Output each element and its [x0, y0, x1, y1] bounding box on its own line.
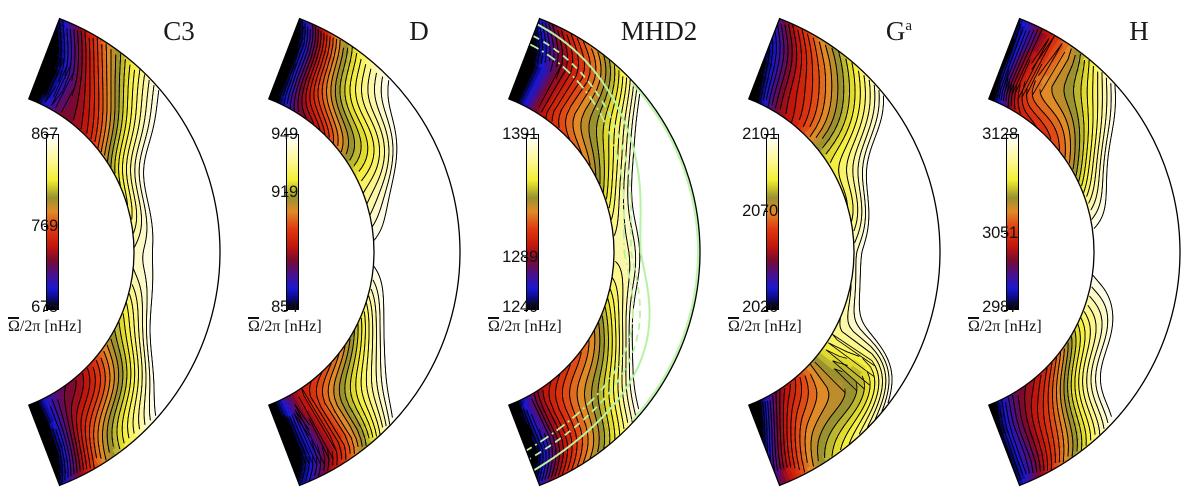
- colorbar-tick-mid: [44, 226, 48, 227]
- panel-title-superscript: a: [905, 18, 912, 34]
- colorbar-max-label-h: 3128: [982, 125, 1018, 144]
- colorbar-mid-label-mhd2: 1289: [502, 248, 538, 267]
- colorbar-tick-max: [1004, 134, 1008, 135]
- panel-title-c3: C3: [120, 18, 238, 45]
- colorbar-tick-max: [764, 134, 768, 135]
- colorbar-gradient: [767, 135, 778, 309]
- colorbar-unit-label-h: Ω/2π [nHz]: [968, 318, 1042, 336]
- colorbar-mhd2: [526, 134, 539, 310]
- omega-overbar: Ω: [488, 318, 500, 336]
- colorbar-min-label-h: 2987: [982, 298, 1018, 317]
- panel-mhd2: MHD2139112891240Ω/2π [nHz]: [480, 0, 720, 504]
- colorbar-max-label-ga: 2101: [742, 125, 778, 144]
- panel-h: H312830512987Ω/2π [nHz]: [960, 0, 1200, 504]
- panel-c3: C3867769675Ω/2π [nHz]: [0, 0, 240, 504]
- colorbar-tick-min: [1004, 310, 1008, 311]
- colorbar-mid-label-ga: 2070: [742, 202, 778, 221]
- colorbar-tick-min: [284, 310, 288, 311]
- unit-text: /2π [nHz]: [980, 318, 1042, 335]
- colorbar-unit-label-c3: Ω/2π [nHz]: [8, 318, 82, 336]
- panel-ga: Ga210120702026Ω/2π [nHz]: [720, 0, 960, 504]
- omega-overbar: Ω: [968, 318, 980, 336]
- overbar-rule: [728, 317, 739, 319]
- panel-d: D949919854Ω/2π [nHz]: [240, 0, 480, 504]
- colorbar-tick-min: [44, 310, 48, 311]
- colorbar-unit-label-ga: Ω/2π [nHz]: [728, 318, 802, 336]
- colorbar-min-label-ga: 2026: [742, 298, 778, 317]
- colorbar-tick-mid: [524, 257, 528, 258]
- colorbar-tick-min: [764, 310, 768, 311]
- colorbar-tick-mid: [284, 192, 288, 193]
- colorbar-min-label-c3: 675: [31, 298, 58, 317]
- colorbar-unit-label-d: Ω/2π [nHz]: [248, 318, 322, 336]
- unit-text: /2π [nHz]: [740, 318, 802, 335]
- omega-overbar: Ω: [8, 318, 20, 336]
- unit-text: /2π [nHz]: [20, 318, 82, 335]
- colorbar-h: [1006, 134, 1019, 310]
- colorbar-gradient: [527, 135, 538, 309]
- colorbar-min-label-d: 854: [271, 298, 298, 317]
- colorbar-ga: [766, 134, 779, 310]
- panel-title-d: D: [360, 18, 478, 45]
- unit-text: /2π [nHz]: [500, 318, 562, 335]
- colorbar-tick-mid: [1004, 233, 1008, 234]
- colorbar-gradient: [287, 135, 298, 309]
- colorbar-tick-min: [524, 310, 528, 311]
- figure-root: C3867769675Ω/2π [nHz] D949919854Ω/2π [nH…: [0, 0, 1200, 504]
- colorbar-tick-mid: [764, 211, 768, 212]
- colorbar-tick-max: [284, 134, 288, 135]
- colorbar-max-label-mhd2: 1391: [502, 125, 538, 144]
- colorbar-gradient: [1007, 135, 1018, 309]
- colorbar-unit-label-mhd2: Ω/2π [nHz]: [488, 318, 562, 336]
- meridional-map: [0, 0, 240, 504]
- panel-title-base: G: [886, 16, 906, 46]
- omega-overbar: Ω: [248, 318, 260, 336]
- meridional-map: [240, 0, 480, 504]
- panel-title-mhd2: MHD2: [600, 18, 718, 45]
- colorbar-mid-label-h: 3051: [982, 224, 1018, 243]
- colorbar-min-label-mhd2: 1240: [502, 298, 538, 317]
- omega-overbar: Ω: [728, 318, 740, 336]
- panel-title-h: H: [1080, 18, 1198, 45]
- overbar-rule: [968, 317, 979, 319]
- colorbar-tick-max: [44, 134, 48, 135]
- overbar-rule: [248, 317, 259, 319]
- overbar-rule: [8, 317, 19, 319]
- colorbar-d: [286, 134, 299, 310]
- meridional-map: [720, 0, 960, 504]
- panel-title-ga: Ga: [840, 18, 958, 45]
- overbar-rule: [488, 317, 499, 319]
- meridional-map: [960, 0, 1200, 504]
- colorbar-tick-max: [524, 134, 528, 135]
- unit-text: /2π [nHz]: [260, 318, 322, 335]
